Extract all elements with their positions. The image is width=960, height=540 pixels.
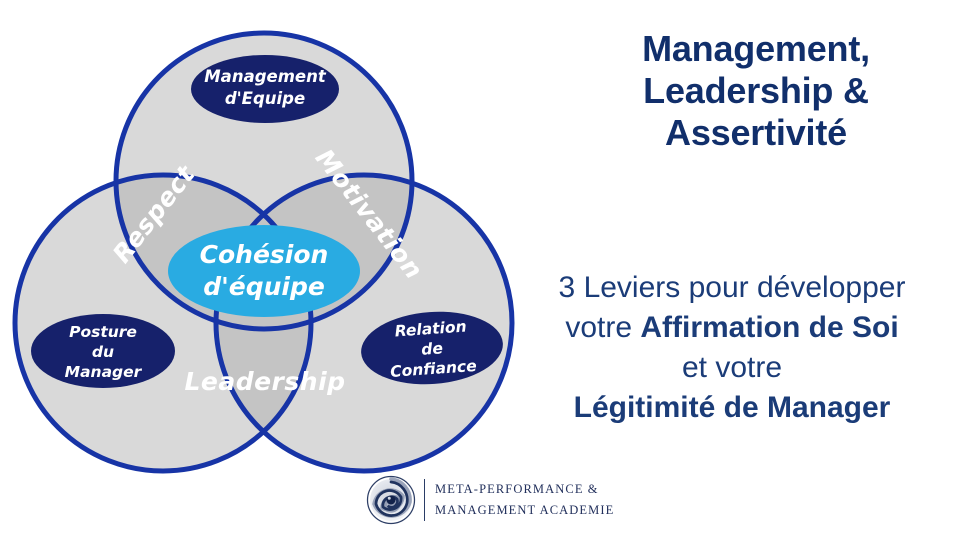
title-line-2: Leadership & — [560, 70, 952, 112]
center-cohesion-equipe-shape — [168, 225, 360, 317]
subtitle-line-2-prefix: votre — [565, 311, 640, 344]
bubble-management-equipe-line2: d'Equipe — [225, 89, 305, 108]
page-title: Management, Leadership & Assertivité — [560, 28, 952, 153]
bubble-management-equipe-line1: Management — [204, 67, 327, 86]
subtitle-line-2: votre Affirmation de Soi — [508, 308, 956, 348]
spiral-icon — [366, 475, 416, 525]
bubble-posture-manager-line2: du — [92, 343, 114, 361]
center-cohesion-equipe-line2: d'équipe — [203, 272, 325, 301]
bubble-relation-confiance-line2: de — [421, 339, 444, 358]
logo: META-PERFORMANCE & MANAGEMENT ACADEMIE — [366, 470, 626, 530]
center-cohesion-equipe[interactable]: Cohésion d'équipe — [168, 225, 360, 317]
slide-canvas: Respect Motivation Leadership Management… — [0, 0, 960, 540]
subtitle-line-3: et votre — [508, 348, 956, 388]
venn-diagram: Respect Motivation Leadership Management… — [0, 0, 540, 500]
intersection-label-leadership: Leadership — [184, 367, 345, 396]
logo-text-line-2: MANAGEMENT ACADEMIE — [435, 500, 614, 521]
center-cohesion-equipe-line1: Cohésion — [200, 240, 329, 269]
subtitle-line-2-bold: Affirmation de Soi — [640, 311, 898, 344]
title-line-3: Assertivité — [560, 112, 952, 154]
venn-svg: Respect Motivation Leadership Management… — [0, 0, 540, 500]
bubble-posture-manager-line1: Posture — [69, 323, 137, 341]
bubble-management-equipe[interactable]: Management d'Equipe — [191, 55, 339, 123]
title-line-1: Management, — [560, 28, 952, 70]
logo-text-line-1: META-PERFORMANCE & — [435, 479, 614, 500]
subtitle: 3 Leviers pour développer votre Affirmat… — [508, 268, 956, 428]
logo-divider — [424, 479, 425, 521]
subtitle-line-1: 3 Leviers pour développer — [508, 268, 956, 308]
subtitle-line-4: Légitimité de Manager — [508, 388, 956, 428]
bubble-posture-manager-line3: Manager — [65, 363, 143, 381]
bubble-posture-manager[interactable]: Posture du Manager — [31, 314, 175, 388]
logo-text: META-PERFORMANCE & MANAGEMENT ACADEMIE — [435, 479, 614, 520]
